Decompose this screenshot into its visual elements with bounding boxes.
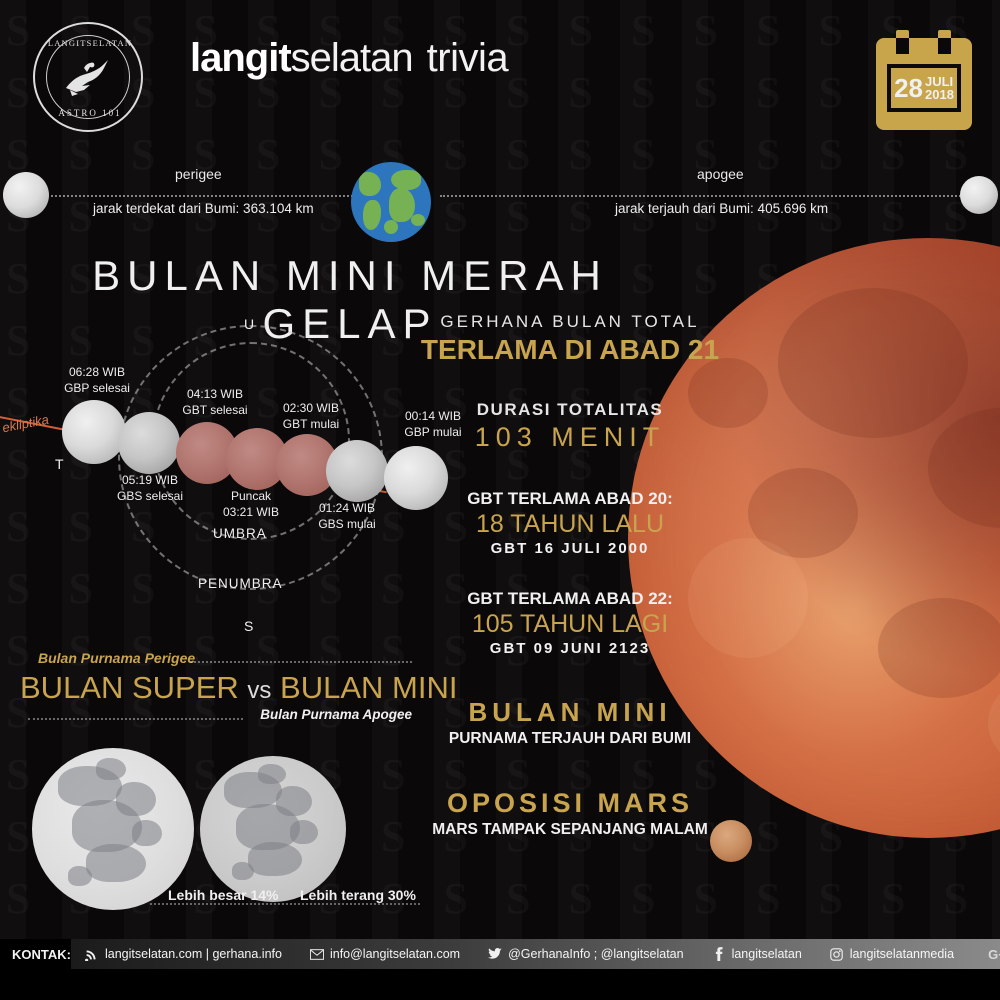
phase-label-gbs-mulai: 01:24 WIB GBS mulai bbox=[292, 500, 402, 532]
stats-column: GERHANA BULAN TOTAL TERLAMA DI ABAD 21 D… bbox=[400, 312, 740, 839]
apogee-moon-icon bbox=[960, 176, 998, 214]
compare-bottom-row: Bulan Purnama Apogee bbox=[20, 705, 420, 729]
phase-label-gbp-selesai: 06:28 WIB GBP selesai bbox=[42, 364, 152, 396]
footer-item-text: langitselatan bbox=[732, 947, 802, 961]
footer-item-googleplus[interactable]: G+ LangitselatanMedia bbox=[968, 947, 1000, 961]
stat-value: 103 MENIT bbox=[400, 422, 740, 453]
peak-label: Puncak 03:21 WIB bbox=[196, 488, 306, 520]
phase-event: GBT mulai bbox=[256, 416, 366, 432]
stat-block-century-longest: GERHANA BULAN TOTAL TERLAMA DI ABAD 21 bbox=[400, 312, 740, 366]
instagram-icon bbox=[830, 947, 844, 961]
stat-block-oposisi-mars: OPOSISI MARS MARS TAMPAK SEPANJANG MALAM bbox=[400, 788, 740, 839]
contact-footer: KONTAK: langitselatan.com | gerhana.info… bbox=[0, 939, 1000, 969]
compare-top-row: Bulan Purnama Perigee bbox=[20, 650, 420, 672]
stat-value: TERLAMA DI ABAD 21 bbox=[400, 334, 740, 366]
compare-title-right: BULAN MINI bbox=[280, 670, 457, 705]
footer-item-text: langitselatan.com | gerhana.info bbox=[105, 947, 282, 961]
stat-head: GBT TERLAMA ABAD 20: bbox=[400, 489, 740, 509]
stat-title: OPOSISI MARS bbox=[400, 788, 740, 819]
brand-part-selatan: selatan bbox=[291, 36, 413, 80]
phase-event: GBS selesai bbox=[95, 488, 205, 504]
ecliptic-label: ekliptika bbox=[1, 412, 50, 436]
stat-kicker: DURASI TOTALITAS bbox=[400, 400, 740, 420]
stat-sub: MARS TAMPAK SEPANJANG MALAM bbox=[400, 821, 740, 839]
compare-title: BULAN SUPER vs BULAN MINI bbox=[20, 672, 420, 705]
calendar-year: 2018 bbox=[925, 88, 954, 101]
compass-north: U bbox=[244, 316, 254, 332]
rss-icon bbox=[85, 947, 99, 961]
calendar-body: 28 JULI 2018 bbox=[876, 38, 972, 130]
minimoon-illustration bbox=[200, 756, 346, 902]
caption-lebih-terang: Lebih terang 30% bbox=[300, 887, 416, 903]
compare-bottom-dotted-line bbox=[28, 718, 243, 720]
compass-west: T bbox=[55, 456, 64, 472]
logo-bottom-text: ASTRO 101 bbox=[35, 108, 145, 118]
phase-time: 01:24 WIB bbox=[292, 500, 402, 516]
stat-value: 105 TAHUN LAGI bbox=[400, 610, 740, 639]
phase-time: 02:30 WIB bbox=[256, 400, 366, 416]
twitter-icon bbox=[488, 947, 502, 961]
googleplus-icon: G+ bbox=[982, 947, 1000, 961]
stat-kicker: GERHANA BULAN TOTAL bbox=[400, 312, 740, 332]
footer-item-email[interactable]: info@langitselatan.com bbox=[296, 947, 474, 961]
calendar-screen: 28 JULI 2018 bbox=[887, 64, 961, 112]
brand-part-langit: langit bbox=[190, 36, 291, 80]
phase-label-gbt-mulai: 02:30 WIB GBT mulai bbox=[256, 400, 366, 432]
envelope-icon bbox=[310, 947, 324, 961]
peak-time: 03:21 WIB bbox=[196, 504, 306, 520]
footer-bottom-bar bbox=[0, 969, 1000, 1000]
stat-block-century20: GBT TERLAMA ABAD 20: 18 TAHUN LALU GBT 1… bbox=[400, 489, 740, 557]
brand-part-trivia: trivia bbox=[427, 36, 508, 80]
perigee-moon-icon bbox=[3, 172, 49, 218]
stat-value: 18 TAHUN LALU bbox=[400, 510, 740, 539]
kontak-label: KONTAK: bbox=[0, 939, 71, 969]
stat-sub: PURNAMA TERJAUH DARI BUMI bbox=[400, 730, 740, 748]
caption-lebih-besar: Lebih besar 14% bbox=[168, 887, 279, 903]
header: LANGITSELATAN ASTRO 101 langitselatantri… bbox=[0, 0, 1000, 150]
compare-perigee-caption: Bulan Purnama Perigee bbox=[38, 650, 195, 666]
orbit-dotted-line-right bbox=[440, 195, 980, 197]
footer-item-text: langitselatanmedia bbox=[850, 947, 954, 961]
footer-item-facebook[interactable]: langitselatan bbox=[698, 947, 816, 961]
calendar-day: 28 bbox=[894, 75, 923, 101]
langitselatan-logo: LANGITSELATAN ASTRO 101 bbox=[33, 22, 143, 132]
compare-title-vs: vs bbox=[247, 677, 271, 704]
phase-event: GBP selesai bbox=[42, 380, 152, 396]
footer-item-website[interactable]: langitselatan.com | gerhana.info bbox=[71, 947, 296, 961]
orbit-dotted-line-left bbox=[40, 195, 360, 197]
logo-top-text: LANGITSELATAN bbox=[35, 38, 145, 48]
facebook-icon bbox=[712, 947, 726, 961]
stat-block-duration: DURASI TOTALITAS 103 MENIT bbox=[400, 400, 740, 453]
peak-text: Puncak bbox=[196, 488, 306, 504]
umbra-label: UMBRA bbox=[213, 526, 267, 541]
phase-time: 04:13 WIB bbox=[160, 386, 270, 402]
stat-sub: GBT 16 JULI 2000 bbox=[400, 540, 740, 557]
supermoon-illustration bbox=[32, 748, 194, 910]
perigee-distance-text: jarak terdekat dari Bumi: 363.104 km bbox=[93, 201, 314, 216]
stat-head: GBT TERLAMA ABAD 22: bbox=[400, 589, 740, 609]
calendar-icon: 28 JULI 2018 bbox=[876, 30, 972, 130]
calendar-notch-right bbox=[938, 38, 951, 54]
apogee-label: apogee bbox=[697, 166, 744, 182]
eclipse-moon-1 bbox=[62, 400, 126, 464]
stat-block-century22: GBT TERLAMA ABAD 22: 105 TAHUN LAGI GBT … bbox=[400, 589, 740, 657]
calendar-date-plate: 28 JULI 2018 bbox=[891, 68, 957, 108]
compare-apogee-caption: Bulan Purnama Apogee bbox=[260, 707, 412, 722]
footer-item-twitter[interactable]: @GerhanaInfo ; @langitselatan bbox=[474, 947, 697, 961]
phase-label-gbt-selesai: 04:13 WIB GBT selesai bbox=[160, 386, 270, 418]
eclipse-moon-6 bbox=[326, 440, 388, 502]
compare-top-dotted-line bbox=[190, 661, 412, 663]
phase-event: GBT selesai bbox=[160, 402, 270, 418]
compare-title-left: BULAN SUPER bbox=[20, 670, 239, 705]
phase-time: 05:19 WIB bbox=[95, 472, 205, 488]
supermoon-vs-minimoon-section: Bulan Purnama Perigee BULAN SUPER vs BUL… bbox=[20, 650, 420, 729]
phase-label-gbs-selesai: 05:19 WIB GBS selesai bbox=[95, 472, 205, 504]
stat-sub: GBT 09 JUNI 2123 bbox=[400, 640, 740, 657]
perigee-label: perigee bbox=[175, 166, 222, 182]
calendar-month-year: JULI 2018 bbox=[925, 75, 954, 101]
penumbra-label: PENUMBRA bbox=[198, 576, 283, 591]
compass-south: S bbox=[244, 618, 253, 634]
footer-item-text: info@langitselatan.com bbox=[330, 947, 460, 961]
eclipse-moon-2 bbox=[118, 412, 180, 474]
phase-time: 06:28 WIB bbox=[42, 364, 152, 380]
horse-rider-emblem bbox=[60, 54, 116, 100]
footer-item-text: @GerhanaInfo ; @langitselatan bbox=[508, 947, 683, 961]
compare-caption-dotted-line bbox=[150, 903, 420, 905]
brand-title: langitselatantrivia bbox=[190, 38, 508, 78]
phase-event: GBS mulai bbox=[292, 516, 402, 532]
earth-icon bbox=[351, 162, 431, 242]
footer-item-instagram[interactable]: langitselatanmedia bbox=[816, 947, 968, 961]
calendar-notch-left bbox=[896, 38, 909, 54]
apogee-distance-text: jarak terjauh dari Bumi: 405.696 km bbox=[615, 201, 828, 216]
